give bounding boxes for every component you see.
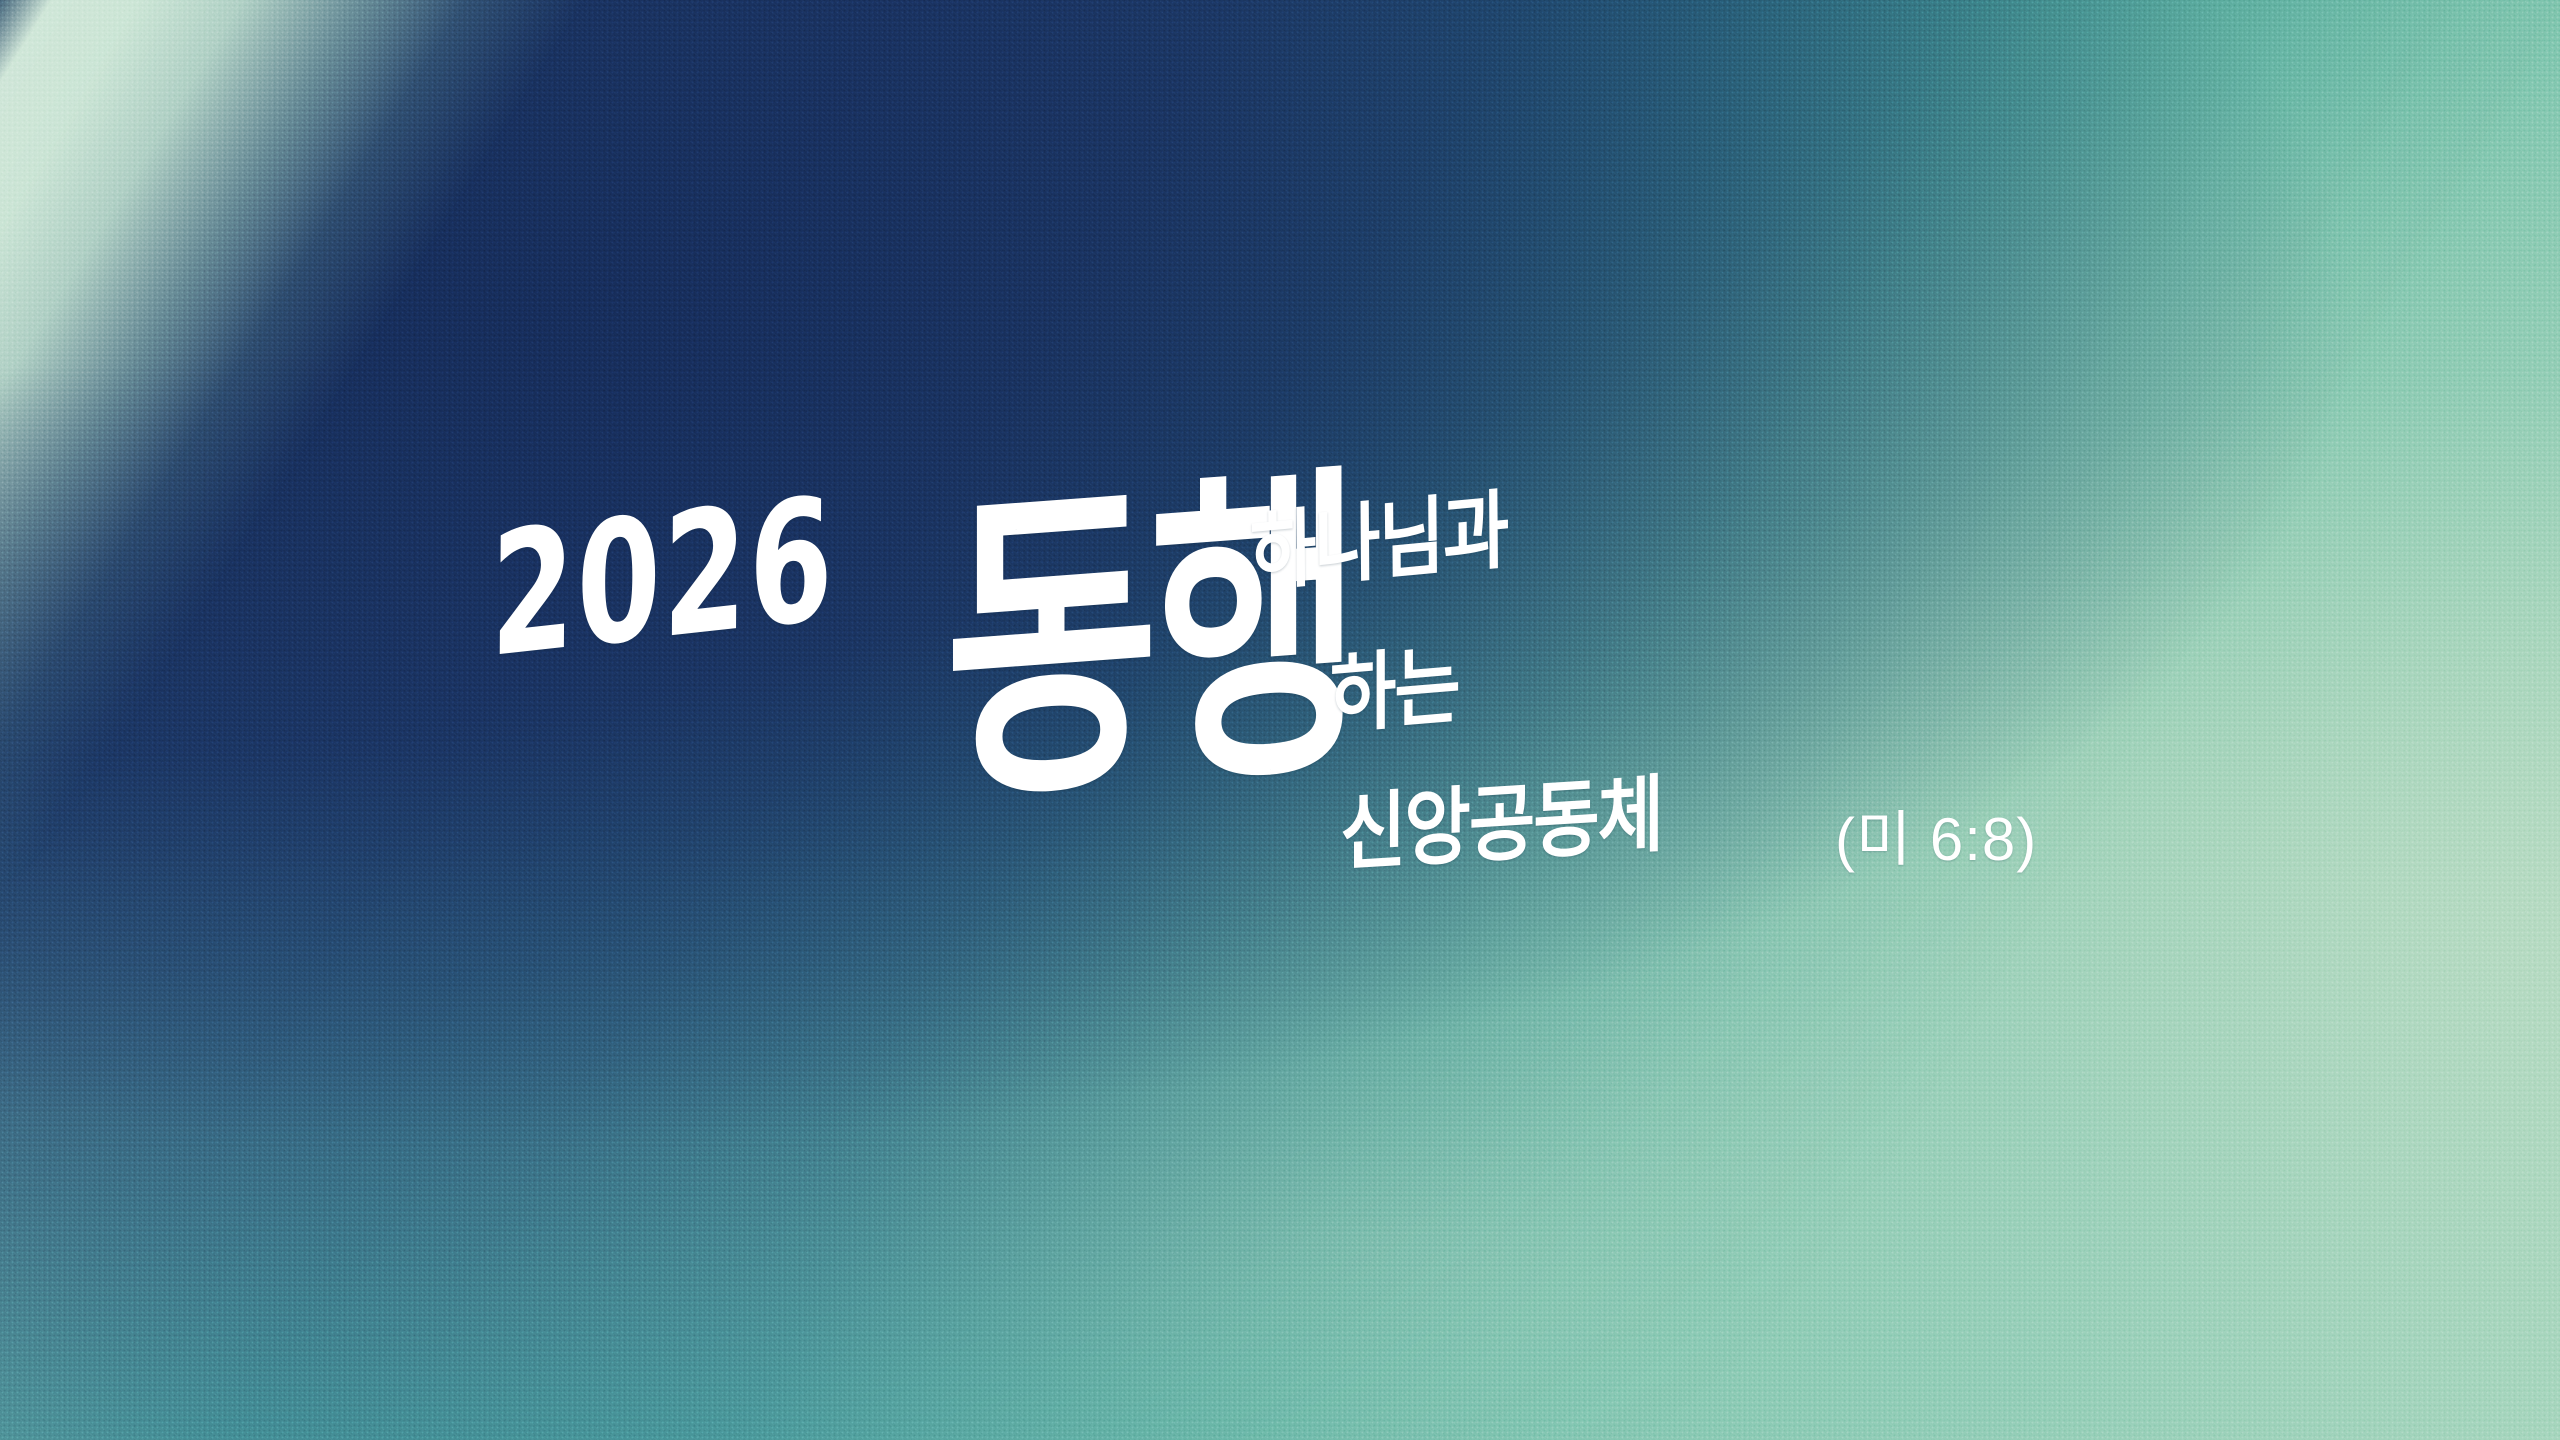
scripture-reference: (미 6:8): [1835, 810, 2037, 870]
slogan-banner: 2026 동행 하나님과 하는 신앙공동체 (미 6:8): [0, 0, 2560, 1440]
year-text: 2026: [490, 475, 835, 682]
subtitle-line-2: 하는: [1330, 643, 1459, 739]
subtitle-line-1: 하나님과: [1250, 487, 1508, 596]
subtitle-line-3: 신앙공동체: [1340, 773, 1662, 876]
headline-lockup: 2026 동행 하나님과 하는 신앙공동체 (미 6:8): [490, 500, 2130, 940]
